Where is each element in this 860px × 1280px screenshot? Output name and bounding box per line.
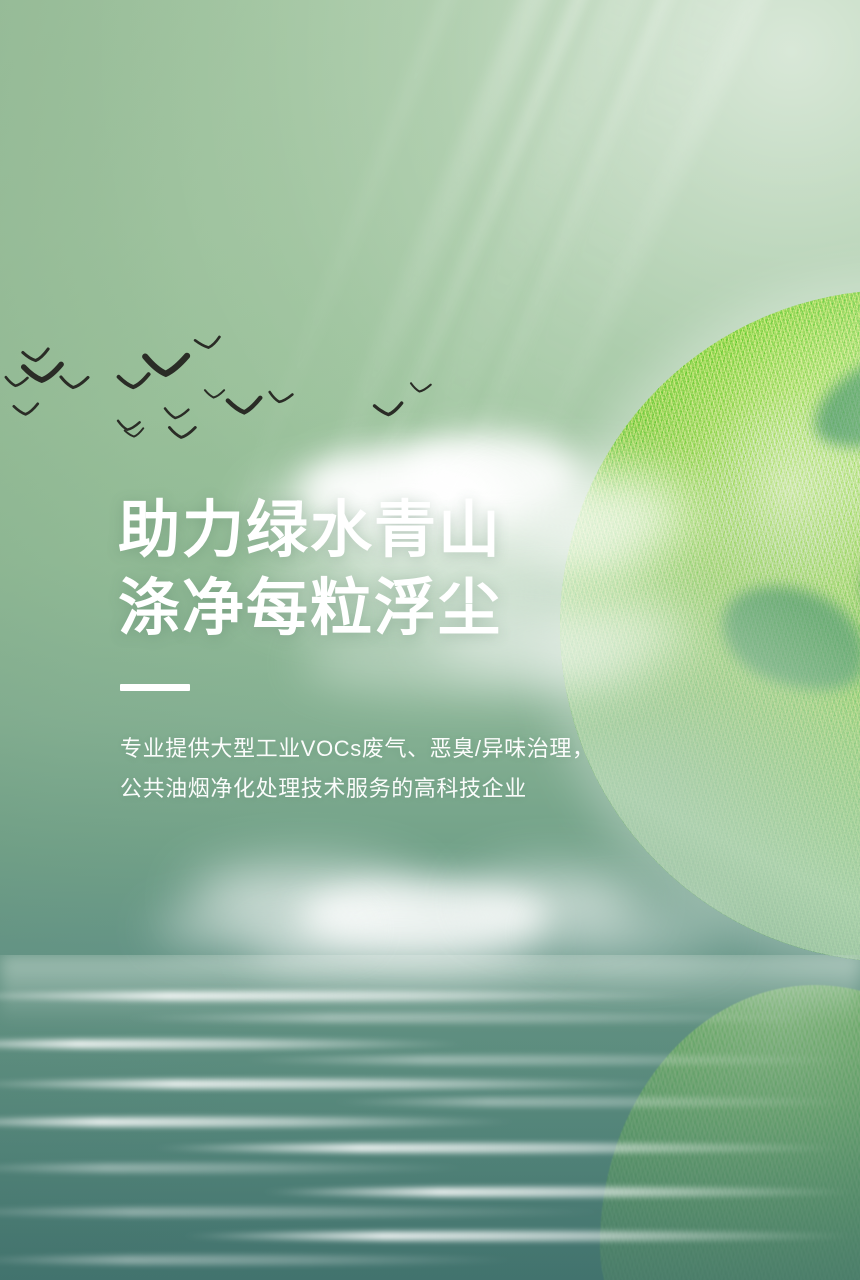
headline-line-1: 助力绿水青山 [118,492,678,570]
bird-icon [374,402,405,420]
hero-banner: 助力绿水青山 涤净每粒浮尘 专业提供大型工业VOCs废气、恶臭/异味治理， 公共… [0,0,860,1280]
bird-icon [409,382,433,396]
subtitle-line-2: 公共油烟净化处理技术服务的高科技企业 [120,769,678,809]
water-surface [0,955,860,1280]
bird-icon [267,390,294,407]
bird-icon [168,426,198,442]
bird-icon [194,336,224,354]
bird-icon [227,397,264,418]
bird-icon [144,354,190,379]
hero-copy: 助力绿水青山 涤净每粒浮尘 专业提供大型工业VOCs废气、恶臭/异味治理， 公共… [118,492,678,809]
bird-icon [59,375,90,393]
headline-divider [120,684,190,691]
bird-icon [163,407,191,423]
bird-flock [0,330,470,460]
headline-line-2: 涤净每粒浮尘 [118,570,678,648]
subtitle-line-1: 专业提供大型工业VOCs废气、恶臭/异味治理， [120,729,678,769]
bird-icon [13,403,41,419]
bird-icon [204,389,226,401]
bird-icon [124,428,146,441]
